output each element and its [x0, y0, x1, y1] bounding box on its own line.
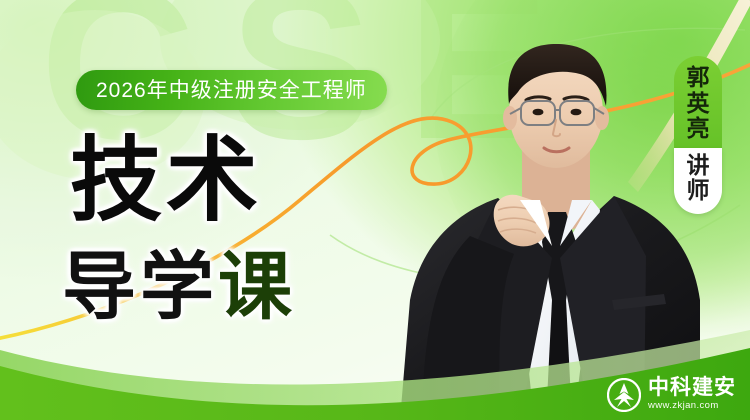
instructor-role-char-2: 师	[687, 178, 710, 204]
instructor-name-char-2: 英	[687, 91, 710, 117]
poster-title-main: 技术	[70, 135, 262, 227]
poster-title-sub-green: 课	[218, 245, 296, 328]
poster-title-sub-dark: 导学	[62, 245, 218, 328]
brand-url: www.zkjan.com	[648, 400, 736, 412]
course-badge-label: 2026年中级注册安全工程师	[96, 80, 367, 101]
instructor-name-char-1: 郭	[687, 65, 710, 91]
instructor-name-block: 郭 英 亮 讲 师	[674, 56, 722, 214]
instructor-name-pill: 郭 英 亮	[674, 56, 722, 148]
course-badge: 2026年中级注册安全工程师	[76, 70, 387, 110]
brand-logo-text: 中科建安 www.zkjan.com	[648, 377, 736, 412]
instructor-role-pill: 讲 师	[674, 148, 722, 214]
instructor-name-char-3: 亮	[687, 116, 710, 142]
brand-logo: 中科建安 www.zkjan.com	[607, 377, 736, 412]
poster-title-sub: 导学课	[62, 250, 296, 324]
course-poster: CSE	[0, 0, 750, 420]
zkjan-circle-arrow-logo-icon	[607, 378, 641, 412]
instructor-role-char-1: 讲	[687, 153, 710, 179]
brand-name: 中科建安	[648, 377, 736, 400]
